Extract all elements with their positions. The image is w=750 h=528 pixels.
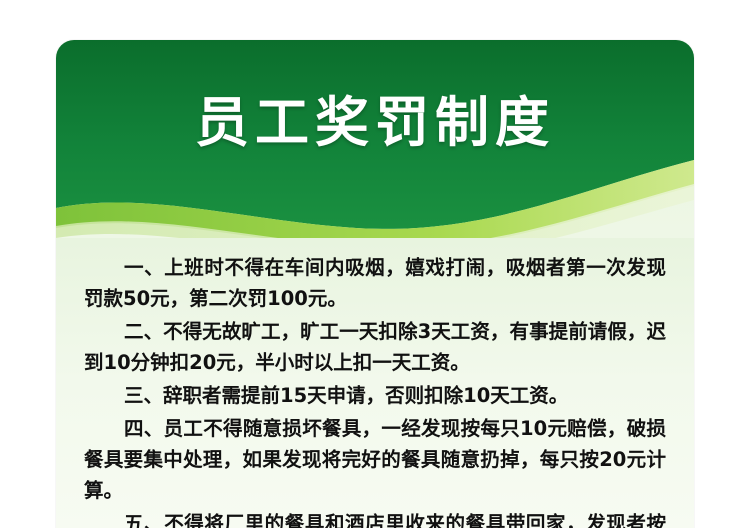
list-item: 三、辞职者需提前15天申请，否则扣除10天工资。 [84, 380, 666, 411]
poster-card: 员工奖罚制度 一、上班时不得在车间内吸烟，嬉戏打闹，吸烟者第一次发现罚款50元，… [56, 40, 694, 528]
list-item: 二、不得无故旷工，旷工一天扣除3天工资，有事提前请假，迟到10分钟扣20元，半小… [84, 316, 666, 378]
list-item: 五、不得将厂里的餐具和酒店里收来的餐具带回家，发现者按每只50元计算。 [84, 508, 666, 528]
list-item: 四、员工不得随意损坏餐具，一经发现按每只10元赔偿，破损餐具要集中处理，如果发现… [84, 413, 666, 506]
rules-list: 一、上班时不得在车间内吸烟，嬉戏打闹，吸烟者第一次发现罚款50元，第二次罚100… [56, 252, 694, 528]
page-title: 员工奖罚制度 [56, 96, 694, 150]
list-item: 一、上班时不得在车间内吸烟，嬉戏打闹，吸烟者第一次发现罚款50元，第二次罚100… [84, 252, 666, 314]
poster-header-band: 员工奖罚制度 [56, 40, 694, 238]
